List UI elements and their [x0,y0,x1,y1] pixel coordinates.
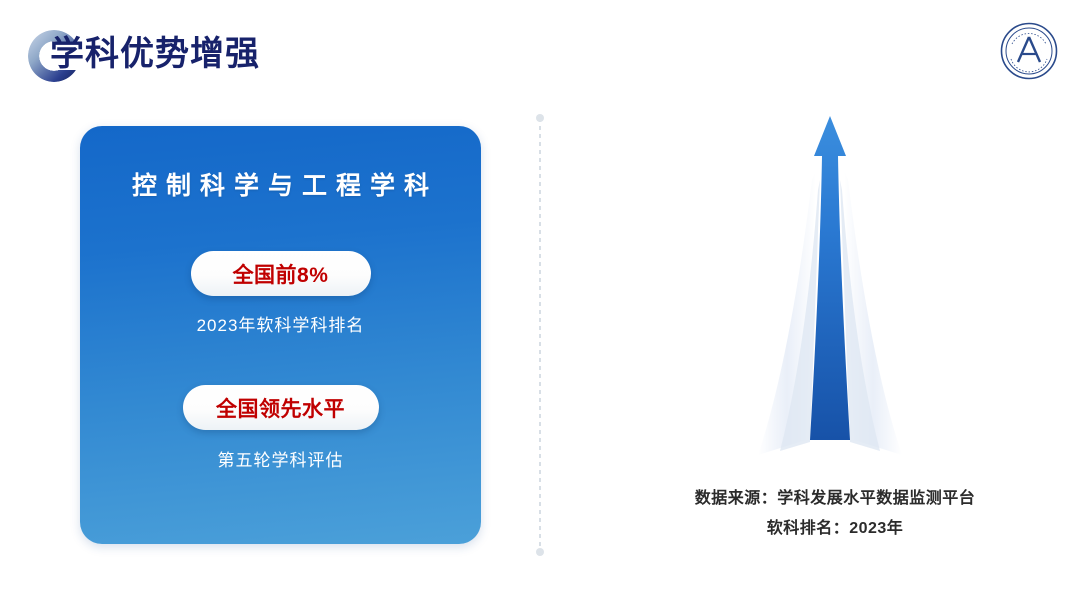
slide-root: 学科优势增强 控制科学与工程学科 全国前8% 2023年软科学科排名 全国领先水… [0,0,1080,608]
vertical-divider [539,118,541,552]
card-title: 控制科学与工程学科 [80,166,481,202]
page-title: 学科优势增强 [50,32,260,76]
arrow-chart: 控制科学与工程 排名：15/ 199 位次：前8% 电气工程 排名：18 / 1… [600,110,1070,490]
upward-arrow-icon [750,110,910,470]
badge-pill-leading-level: 全国领先水平 [183,385,379,430]
badge-caption-evaluation: 第五轮学科评估 [80,446,481,471]
badge-pill-label: 全国前8% [233,259,329,289]
badge-caption-ranking: 2023年软科学科排名 [80,311,481,336]
divider-dot-top-icon [536,114,544,122]
source-line-1: 数据来源：学科发展水平数据监测平台 [600,484,1070,514]
divider-dot-bottom-icon [536,548,544,556]
slide-header: 学科优势增强 [0,0,1080,100]
discipline-card: 控制科学与工程学科 全国前8% 2023年软科学科排名 全国领先水平 第五轮学科… [80,126,481,544]
source-note: 数据来源：学科发展水平数据监测平台 软科排名：2023年 [600,484,1070,544]
university-logo [1000,22,1058,80]
source-line-2: 软科排名：2023年 [600,514,1070,544]
badge-pill-national-top8: 全国前8% [191,251,371,296]
badge-pill-label: 全国领先水平 [216,393,345,423]
